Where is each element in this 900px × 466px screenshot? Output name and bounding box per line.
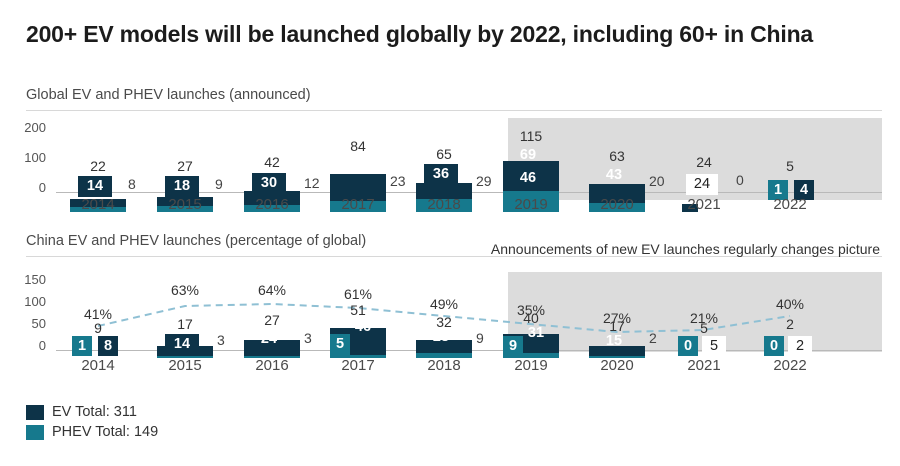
total-label: 84 [314, 138, 402, 154]
ev-value-label: 24 [252, 332, 286, 347]
phev-value-label: 5 [330, 334, 350, 355]
total-label: 2 [746, 316, 834, 332]
total-label: 24 [660, 154, 748, 170]
phev-value-label: 9 [215, 176, 223, 192]
ev-value-label: 23 [424, 330, 458, 345]
ev-value-label: 24 [686, 174, 718, 195]
ev-value-label: 14 [78, 176, 112, 197]
bar-group-2020[interactable]: 17 15 2 [573, 264, 661, 364]
total-label: 32 [400, 314, 488, 330]
ev-value-label: 8 [98, 336, 118, 356]
x-label-2015: 2015 [141, 357, 229, 374]
total-label: 5 [660, 320, 748, 336]
divider-top [26, 110, 882, 111]
bar-group-2014[interactable]: 9 1 8 [54, 264, 142, 364]
x-label-2015: 2015 [141, 196, 229, 213]
bar-group-2021[interactable]: 5 0 5 [660, 264, 748, 364]
ev-value-label: 14 [165, 334, 199, 355]
y-tick-100: 100 [4, 150, 46, 165]
legend: EV Total: 311 PHEV Total: 149 [26, 404, 158, 444]
legend-label-phev: PHEV Total: 149 [52, 424, 158, 440]
legend-item-phev[interactable]: PHEV Total: 149 [26, 424, 158, 440]
total-label: 40 [487, 310, 575, 326]
x-label-2020: 2020 [573, 357, 661, 374]
phev-value-label: 46 [511, 171, 545, 186]
y-tick-0: 0 [4, 180, 46, 195]
total-label: 27 [228, 312, 316, 328]
total-label: 65 [400, 146, 488, 162]
ev-value-label: 0 [678, 336, 698, 356]
legend-label-ev: EV Total: 311 [52, 404, 137, 420]
total-label: 22 [54, 158, 142, 174]
x-label-2016: 2016 [228, 357, 316, 374]
phev-value-label: 2 [649, 330, 657, 346]
x-label-2022: 2022 [746, 196, 834, 213]
ev-value-label: 0 [764, 336, 784, 356]
x-label-2022: 2022 [746, 357, 834, 374]
bar-group-2022[interactable]: 2 0 2 [746, 264, 834, 364]
ev-value-label: 31 [519, 326, 553, 341]
total-label: 115 [487, 128, 575, 144]
x-label-2018: 2018 [400, 357, 488, 374]
phev-swatch-icon [26, 425, 44, 440]
phev-value-label: 0 [736, 172, 744, 188]
total-label: 42 [228, 154, 316, 170]
total-label: 51 [314, 302, 402, 318]
bar-group-2019[interactable]: 40 31 9 [487, 264, 575, 364]
x-label-2021: 2021 [660, 357, 748, 374]
phev-value-label: 9 [503, 336, 523, 356]
ev-value-label: 15 [597, 334, 631, 349]
ev-value-label: 30 [252, 173, 286, 194]
y-tick-200: 200 [4, 120, 46, 135]
annotation-text: Announcements of new EV launches regular… [490, 240, 880, 258]
bar-group-2015[interactable]: 17 14 3 [141, 264, 229, 364]
x-label-2021: 2021 [660, 196, 748, 213]
x-label-2020: 2020 [573, 196, 661, 213]
x-label-2016: 2016 [228, 196, 316, 213]
total-label: 27 [141, 158, 229, 174]
phev-value-label: 9 [476, 330, 484, 346]
phev-value-label: 5 [702, 336, 726, 356]
ev-value-label: 43 [597, 168, 631, 183]
ev-value-label: 18 [165, 176, 199, 197]
bar-group-2018[interactable]: 32 23 9 [400, 264, 488, 364]
ev-swatch-icon [26, 405, 44, 420]
phev-value-label: 3 [304, 330, 312, 346]
total-label: 63 [573, 148, 661, 164]
x-label-2017: 2017 [314, 196, 402, 213]
total-label: 5 [746, 158, 834, 174]
phev-value-label: 8 [128, 176, 136, 192]
x-label-2017: 2017 [314, 357, 402, 374]
ev-value-label: 36 [424, 164, 458, 185]
phev-value-label: 3 [217, 332, 225, 348]
ev-value-label: 46 [346, 320, 380, 335]
x-label-2014: 2014 [54, 357, 142, 374]
x-label-2019: 2019 [487, 196, 575, 213]
total-label: 17 [573, 318, 661, 334]
legend-item-ev[interactable]: EV Total: 311 [26, 404, 158, 420]
total-label: 9 [54, 320, 142, 336]
chart-page: 200+ EV models will be launched globally… [0, 0, 900, 466]
ev-value-label: 69 [511, 148, 545, 163]
chart-top-subtitle: Global EV and PHEV launches (announced) [26, 87, 876, 103]
china-launches-chart: 150 100 50 0 41% 63% 64% 61% 49% 35% 27%… [0, 264, 900, 364]
bar-group-2016[interactable]: 27 24 3 [228, 264, 316, 364]
x-label-2018: 2018 [400, 196, 488, 213]
phev-value-label: 2 [788, 336, 812, 356]
x-label-2014: 2014 [54, 196, 142, 213]
bar-group-2017[interactable]: 51 46 5 [314, 264, 402, 364]
phev-value-label: 1 [72, 336, 92, 356]
x-label-2019: 2019 [487, 357, 575, 374]
ev-value-label: 61 [338, 159, 372, 174]
page-title: 200+ EV models will be launched globally… [26, 20, 876, 49]
total-label: 17 [141, 316, 229, 332]
